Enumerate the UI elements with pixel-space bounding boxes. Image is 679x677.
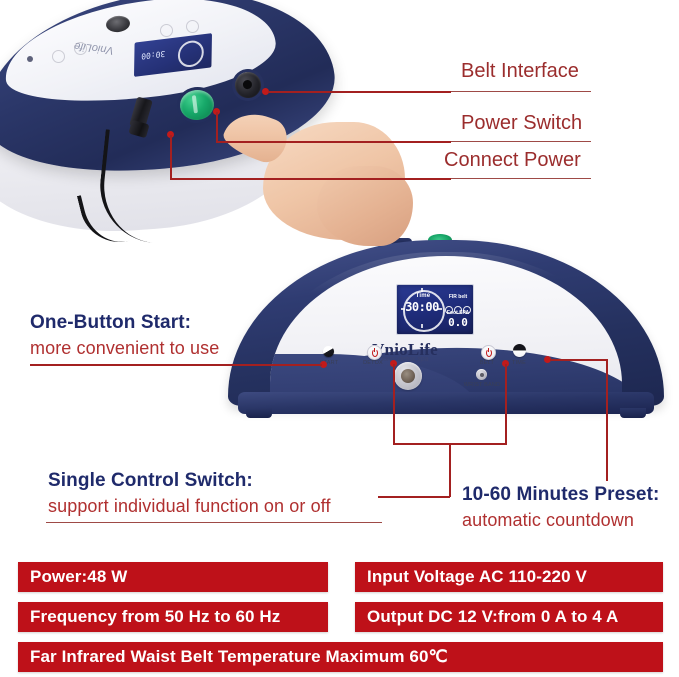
- wrist-band-port-label: WRIST BAND: [459, 382, 505, 388]
- one-button-start-leader-line: [30, 364, 322, 366]
- lcd-time-readout: 30:00: [141, 49, 165, 61]
- lcd-ring-tick-top: [421, 288, 423, 292]
- spec-output: Output DC 12 V:from 0 A to 4 A: [355, 602, 663, 632]
- belt-interface-leader-line: [268, 91, 451, 93]
- hand-illustration: [225, 104, 405, 239]
- belt-button[interactable]: [481, 345, 496, 360]
- callout-single-control-switch: Single Control Switch: support individua…: [48, 470, 331, 517]
- spec-input-voltage: Input Voltage AC 110-220 V: [355, 562, 663, 592]
- lcd-time-value: 30:00: [403, 300, 441, 314]
- callout-single-control-switch-sub: support individual function on or off: [48, 496, 331, 517]
- spec-frequency: Frequency from 50 Hz to 60 Hz: [18, 602, 328, 632]
- callout-minutes-preset-sub: automatic countdown: [462, 510, 659, 531]
- array-port[interactable]: [394, 362, 422, 390]
- time-marker-vertical: [606, 359, 608, 481]
- panel-icon-3: [160, 24, 173, 37]
- lcd-time-label: Time: [409, 293, 437, 299]
- belt-marker-vertical: [505, 364, 507, 444]
- single-control-leader-line: [378, 496, 450, 498]
- lcd-ring-tick-bottom: [421, 324, 423, 328]
- connect-power-leader-vertical: [170, 135, 172, 179]
- detox-button[interactable]: [367, 345, 382, 360]
- single-control-bracket-stem: [449, 443, 451, 497]
- callout-single-control-switch-head: Single Control Switch:: [48, 470, 331, 492]
- start-button[interactable]: [323, 346, 334, 357]
- time-button[interactable]: [513, 344, 526, 357]
- infographic-canvas: 30:00 VnioLife Belt Interface Power Swit…: [0, 0, 679, 677]
- panel-icon-1: [52, 50, 65, 63]
- detox-button-label: DETOX: [351, 360, 395, 366]
- label-belt-interface: Belt Interface: [461, 60, 579, 83]
- callout-minutes-preset: 10-60 Minutes Preset: automatic countdow…: [462, 484, 659, 531]
- panel-icon-2: [74, 42, 87, 55]
- label-power-switch: Power Switch: [461, 112, 582, 135]
- device-foot-right: [620, 408, 646, 418]
- callout-one-button-start-sub: more convenient to use: [30, 338, 219, 359]
- device-lcd-display: Time 30:00 FIR belt Foot SPA 0.0: [396, 284, 474, 335]
- wrist-band-port[interactable]: [476, 369, 487, 380]
- callout-one-button-start-head: One-Button Start:: [30, 312, 219, 334]
- spec-power: Power:48 W: [18, 562, 328, 592]
- lcd-fir-belt-label: FIR belt: [444, 294, 472, 300]
- panel-indicator-dot: [27, 56, 33, 62]
- lcd-dial-ring: [178, 39, 204, 68]
- connect-power-leader-line: [170, 178, 451, 180]
- panel-icon-4: [186, 20, 199, 33]
- time-marker-horizontal: [550, 359, 607, 361]
- main-device-illustration: Time 30:00 FIR belt Foot SPA 0.0 VnioLif…: [228, 236, 664, 426]
- detox-marker-vertical: [393, 364, 395, 444]
- device-foot-left: [246, 408, 272, 418]
- power-switch-leader-line: [216, 141, 451, 143]
- callout-single-control-underline: [46, 522, 382, 523]
- spec-temperature: Far Infrared Waist Belt Temperature Maxi…: [18, 642, 663, 672]
- power-switch-leader-vertical: [216, 112, 218, 142]
- label-connect-power: Connect Power: [444, 149, 581, 172]
- callout-minutes-preset-head: 10-60 Minutes Preset:: [462, 484, 659, 506]
- lcd-foot-spa-value: 0.0: [444, 316, 472, 329]
- device-base: [238, 392, 654, 414]
- callout-one-button-start: One-Button Start: more convenient to use: [30, 312, 219, 359]
